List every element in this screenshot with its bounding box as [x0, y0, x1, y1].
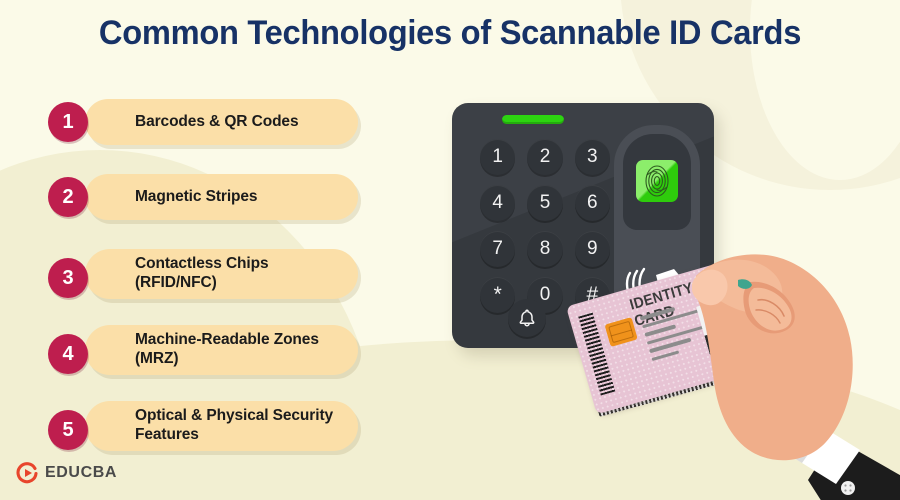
list-item-text: Machine-Readable Zones (MRZ) [135, 331, 319, 369]
technology-list: 1 Barcodes & QR Codes 2 Magnetic Stripes… [48, 99, 358, 477]
keypad: 1 2 3 4 5 6 7 8 9 * 0 # [480, 139, 610, 323]
doorbell-button[interactable] [508, 299, 546, 337]
list-item-pill: Machine-Readable Zones (MRZ) [85, 325, 358, 375]
list-item-pill: Barcodes & QR Codes [85, 99, 358, 145]
list-item-number-badge: 3 [48, 258, 88, 298]
list-item: 3 Contactless Chips (RFID/NFC) [48, 249, 358, 307]
list-item-number-badge: 2 [48, 177, 88, 217]
list-item-number-badge: 1 [48, 102, 88, 142]
list-item-line2: (RFID/NFC) [135, 274, 269, 293]
list-item-text: Contactless Chips (RFID/NFC) [135, 255, 269, 293]
list-item-line1: Barcodes & QR Codes [135, 113, 298, 132]
list-item: 2 Magnetic Stripes [48, 174, 358, 220]
list-item-line1: Machine-Readable Zones [135, 331, 319, 350]
infographic-canvas: Common Technologies of Scannable ID Card… [0, 0, 900, 500]
list-item-line1: Optical & Physical Security [135, 407, 333, 426]
keypad-key-4[interactable]: 4 [480, 185, 515, 221]
list-item-text: Optical & Physical Security Features [135, 407, 333, 445]
fingerprint-scanner-pad[interactable] [636, 160, 678, 202]
list-item-pill: Contactless Chips (RFID/NFC) [85, 249, 358, 299]
brand-name: EDUCBA [45, 464, 117, 482]
list-item-line1: Magnetic Stripes [135, 188, 257, 207]
fingerprint-icon [644, 164, 670, 198]
list-item-number-badge: 4 [48, 334, 88, 374]
page-title: Common Technologies of Scannable ID Card… [18, 14, 882, 53]
keypad-key-1[interactable]: 1 [480, 139, 515, 175]
list-item-text: Magnetic Stripes [135, 188, 257, 207]
list-item: 4 Machine-Readable Zones (MRZ) [48, 325, 358, 383]
list-item-line2: Features [135, 426, 333, 445]
list-item-number-badge: 5 [48, 410, 88, 450]
keypad-key-6[interactable]: 6 [575, 185, 610, 221]
keypad-row: 4 5 6 [480, 185, 610, 221]
list-item: 1 Barcodes & QR Codes [48, 99, 358, 145]
keypad-key-2[interactable]: 2 [527, 139, 562, 175]
list-item-line1: Contactless Chips [135, 255, 269, 274]
brand-logo: EDUCBA [16, 462, 117, 484]
keypad-row: 7 8 9 [480, 231, 610, 267]
keypad-key-7[interactable]: 7 [480, 231, 515, 267]
bell-icon [516, 307, 538, 329]
list-item-line2: (MRZ) [135, 350, 319, 369]
educba-logo-icon [16, 462, 38, 484]
keypad-key-9[interactable]: 9 [575, 231, 610, 267]
list-item: 5 Optical & Physical Security Features [48, 401, 358, 459]
keypad-key-3[interactable]: 3 [575, 139, 610, 175]
status-led-indicator [502, 115, 564, 124]
hand-holding-card [690, 252, 900, 500]
keypad-key-8[interactable]: 8 [527, 231, 562, 267]
list-item-pill: Optical & Physical Security Features [85, 401, 358, 451]
keypad-key-5[interactable]: 5 [527, 185, 562, 221]
fingerprint-scanner-bezel [623, 134, 691, 230]
keypad-row: 1 2 3 [480, 139, 610, 175]
list-item-pill: Magnetic Stripes [85, 174, 358, 220]
list-item-text: Barcodes & QR Codes [135, 113, 298, 132]
